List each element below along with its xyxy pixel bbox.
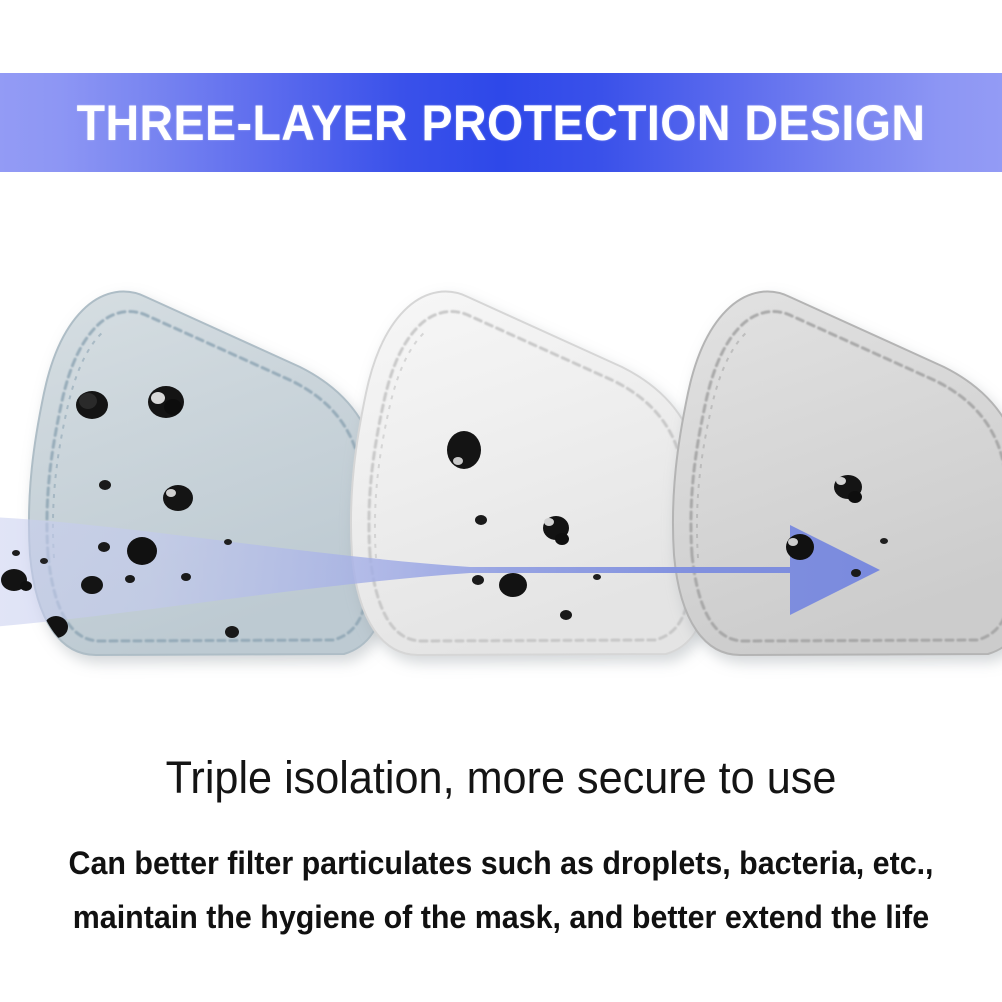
body-text-line-1: Can better filter particulates such as d…	[25, 845, 977, 882]
product-infographic-poster: THREE-LAYER PROTECTION DESIGN	[0, 0, 1002, 1002]
body-text-line-2: maintain the hygiene of the mask, and be…	[25, 899, 977, 936]
headline-text: Triple isolation, more secure to use	[20, 752, 982, 804]
three-layer-diagram	[0, 255, 1002, 685]
header-title: THREE-LAYER PROTECTION DESIGN	[35, 73, 967, 172]
inner-layer-pad	[673, 292, 1002, 655]
middle-layer-pad	[351, 292, 710, 655]
header-banner: THREE-LAYER PROTECTION DESIGN	[0, 73, 1002, 172]
filter-layers-illustration	[0, 255, 1002, 685]
